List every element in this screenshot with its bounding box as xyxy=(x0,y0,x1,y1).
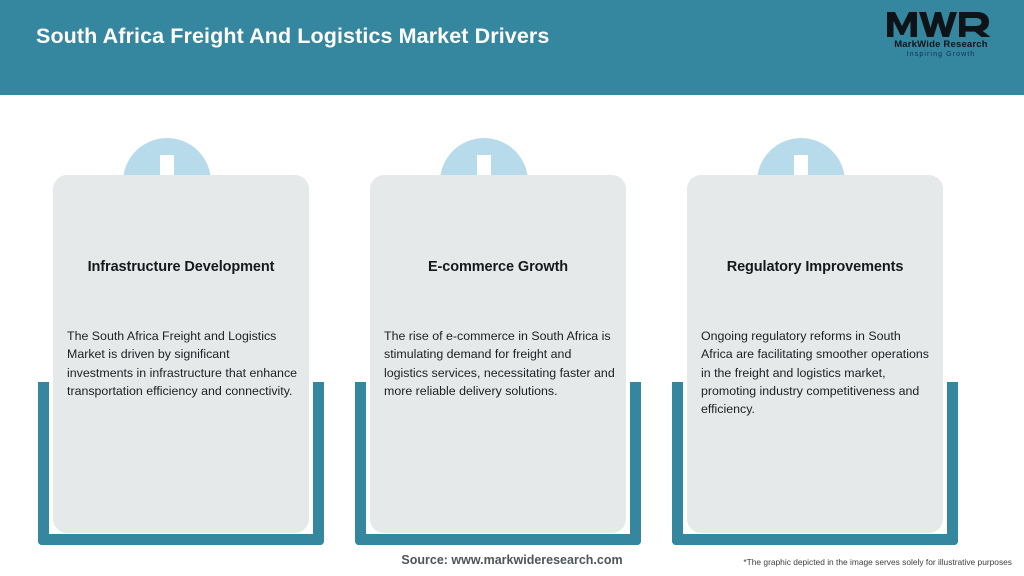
logo-company-name: MarkWide Research xyxy=(894,40,988,50)
card-title: Regulatory Improvements xyxy=(687,259,943,275)
mwr-logo-icon xyxy=(885,9,997,39)
card-description: Ongoing regulatory reforms in South Afri… xyxy=(701,327,933,419)
card-description: The rise of e-commerce in South Africa i… xyxy=(384,327,616,400)
disclaimer-label: *The graphic depicted in the image serve… xyxy=(743,557,1012,567)
driver-card-1: Infrastructure Development The South Afr… xyxy=(22,95,340,576)
page-title: South Africa Freight And Logistics Marke… xyxy=(36,24,549,49)
driver-cards-container: Infrastructure Development The South Afr… xyxy=(0,95,1024,576)
driver-card-2: E-commerce Growth The rise of e-commerce… xyxy=(339,95,657,576)
card-body-2: E-commerce Growth The rise of e-commerce… xyxy=(370,175,626,533)
card-body-1: Infrastructure Development The South Afr… xyxy=(53,175,309,533)
card-title: E-commerce Growth xyxy=(370,259,626,275)
driver-card-3: Regulatory Improvements Ongoing regulato… xyxy=(656,95,974,576)
logo-tagline: Inspiring Growth xyxy=(907,51,976,58)
card-body-3: Regulatory Improvements Ongoing regulato… xyxy=(687,175,943,533)
brand-logo: MarkWide Research Inspiring Growth xyxy=(876,9,1006,71)
card-description: The South Africa Freight and Logistics M… xyxy=(67,327,299,400)
page-header: South Africa Freight And Logistics Marke… xyxy=(0,0,1024,95)
card-title: Infrastructure Development xyxy=(53,259,309,275)
